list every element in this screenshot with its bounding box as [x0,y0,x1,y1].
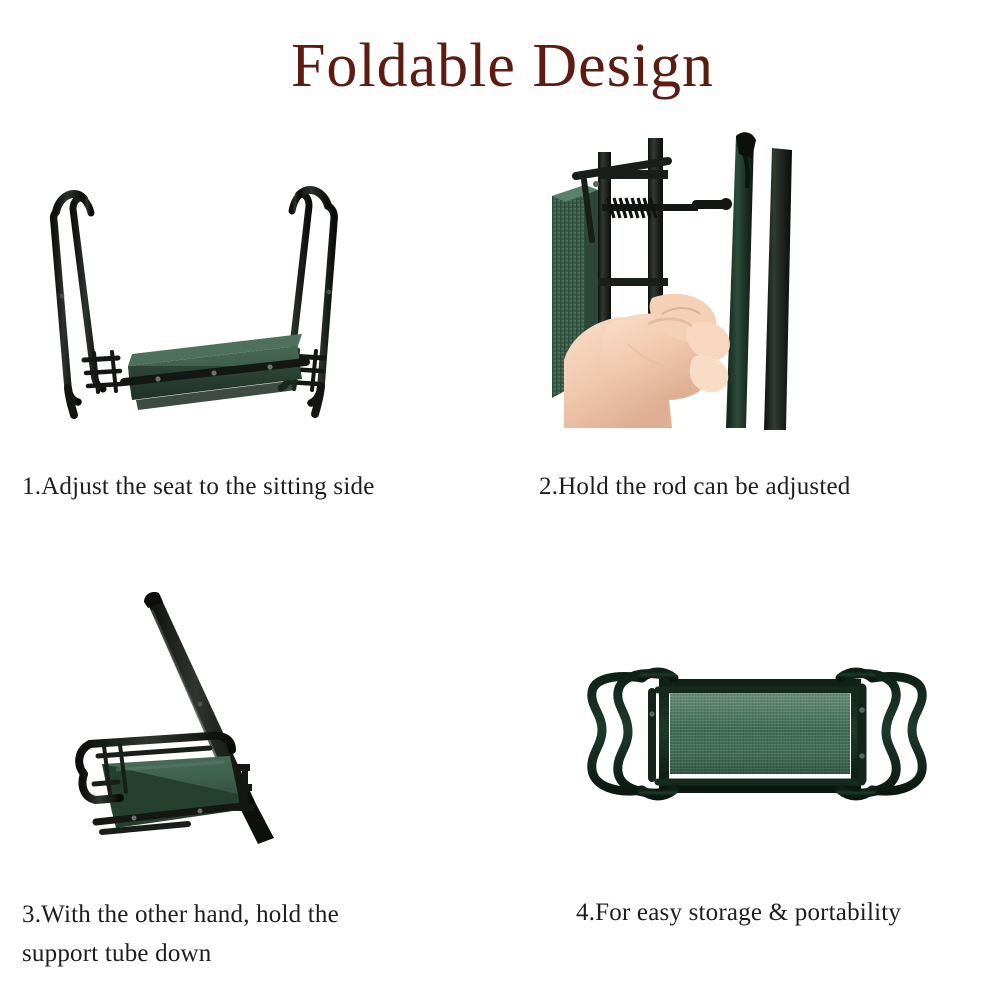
folded-mesh-pad [670,694,850,774]
step-3-caption: 3.With the other hand, hold the support … [22,896,452,974]
hand-gripping-spring-rod-photo [540,128,830,433]
page-title: Foldable Design [0,34,1005,99]
step-2-image [540,128,830,433]
step-1-image [40,168,370,438]
kneeler-folding-side-view-photo [60,588,400,853]
step-4-caption: 4.For easy storage & portability [576,894,901,933]
step-4-image [572,648,942,853]
step-2-caption: 2.Hold the rod can be adjusted [539,468,850,507]
seat-pad [124,334,306,410]
frame-right-rail [764,148,792,430]
step-3-image [60,588,400,853]
step-1-caption: 1.Adjust the seat to the sitting side [22,468,375,507]
garden-kneeler-upright-seat-photo [40,168,370,438]
front-adjust-tube [726,132,756,428]
kneeler-folded-flat-photo [572,648,942,853]
foldable-design-infographic: Foldable Design [0,0,1005,1005]
